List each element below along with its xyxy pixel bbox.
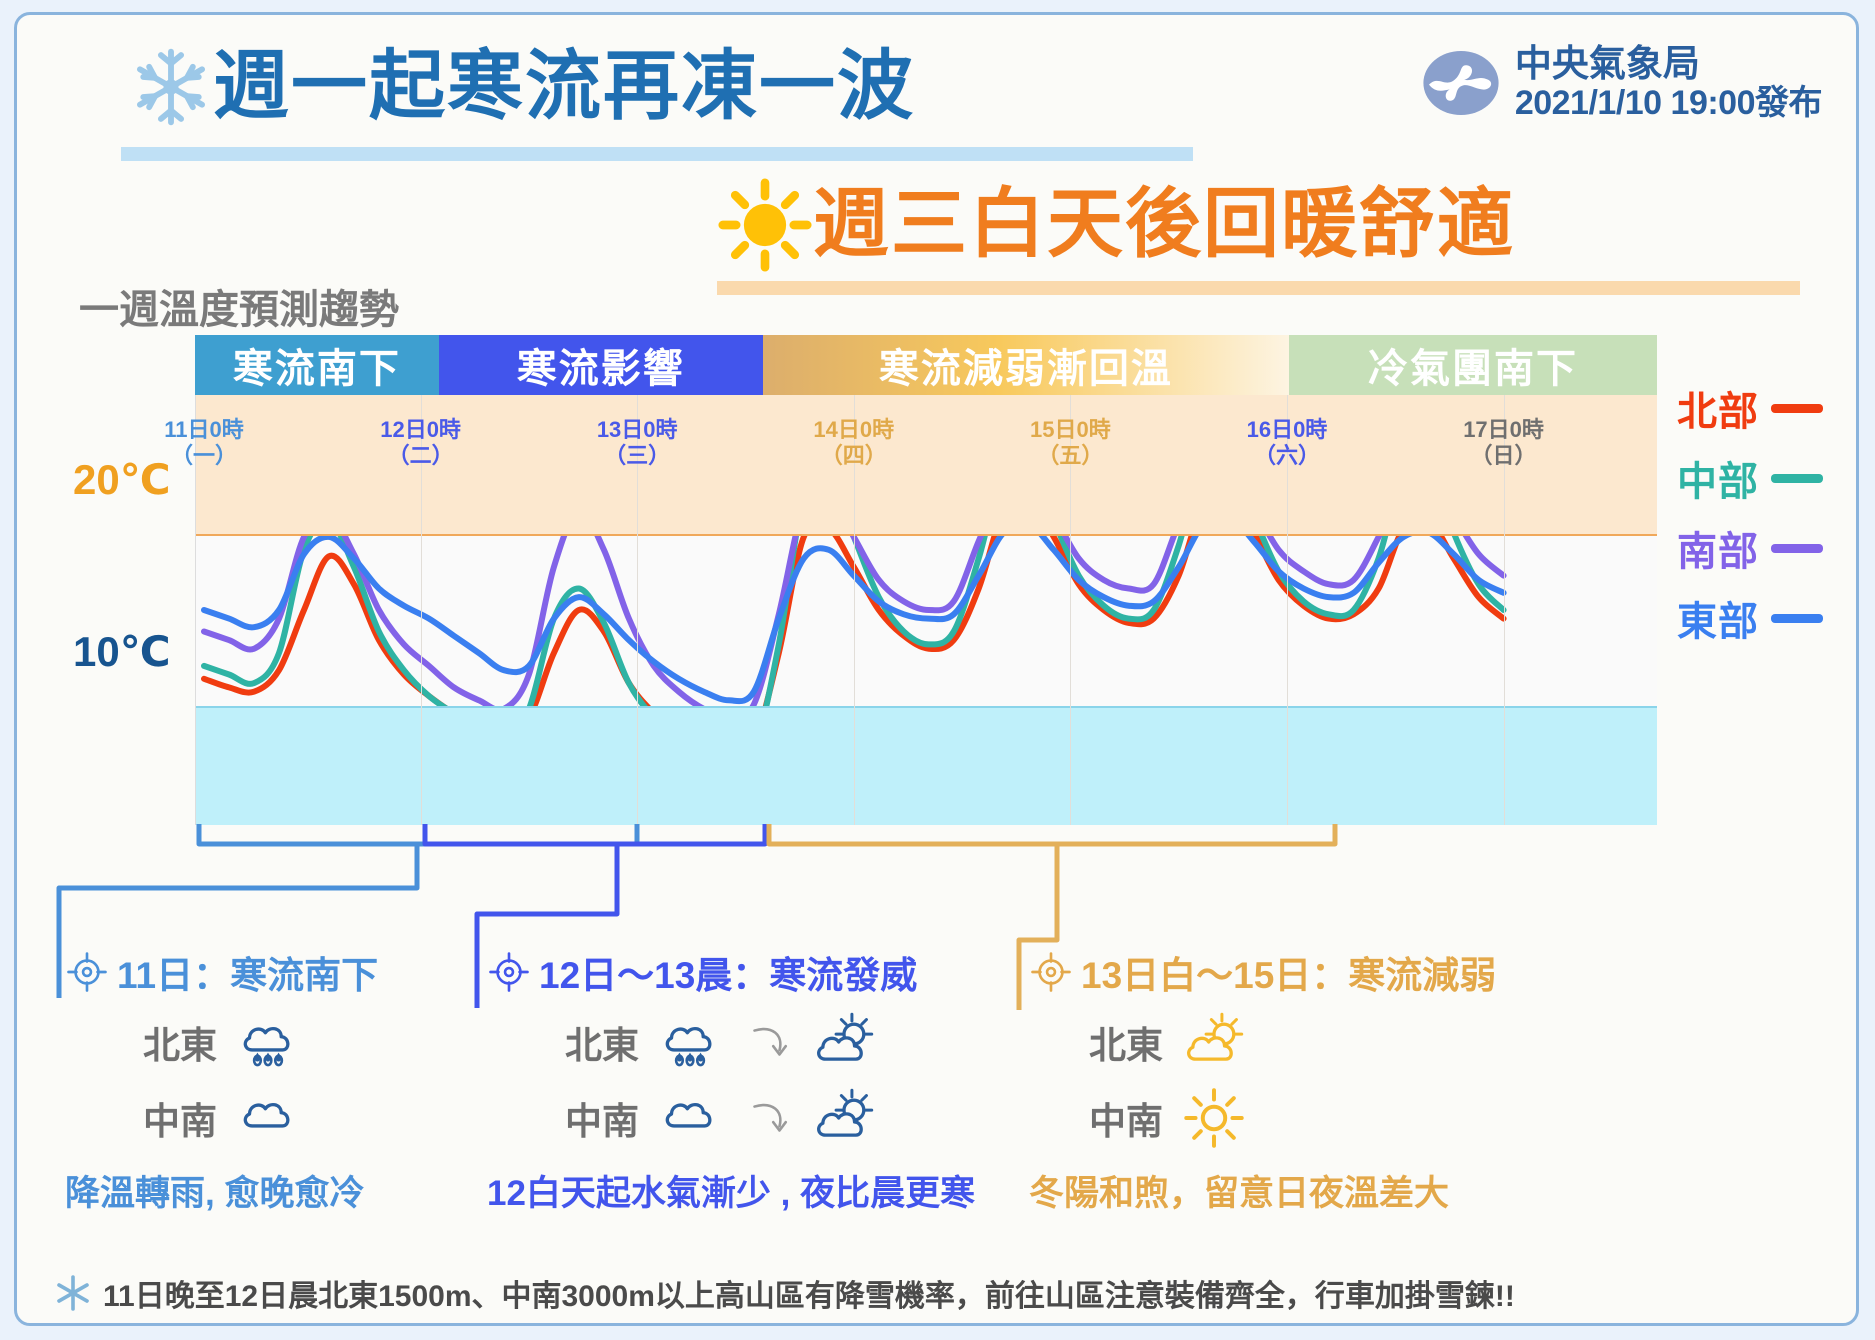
rain-cloud-icon: [235, 1009, 301, 1075]
gridline-20c: [196, 534, 1657, 536]
sun-icon: [717, 177, 813, 273]
headline-1-underline: [121, 147, 1193, 161]
x-tick-label: 17日0時（日）: [1434, 417, 1574, 469]
legend-label: 南部: [1677, 519, 1759, 577]
rain-cloud-icon: [657, 1009, 723, 1075]
callout-title: 13日白～15日：寒流減弱: [1029, 945, 1496, 999]
x-tick-day: 13日0時: [567, 417, 707, 443]
weather-row-label: 北東: [1089, 1015, 1163, 1069]
x-tick-weekday: （二）: [351, 443, 491, 469]
phase-band-2: 寒流影響: [439, 335, 763, 395]
x-tick-label: 14日0時（四）: [784, 417, 924, 469]
target-icon: [487, 950, 531, 994]
footer-text: 11日晚至12日晨北東1500m、中南3000m以上高山區有降雪機率，前往山區注…: [103, 1271, 1515, 1315]
x-tick-label: 15日0時（五）: [1000, 417, 1140, 469]
callout-block-1: 11日：寒流南下北東中南降溫轉雨, 愈晚愈冷: [65, 945, 378, 1216]
x-tick-label: 16日0時（六）: [1217, 417, 1357, 469]
phase-band-3: 寒流減弱漸回溫: [763, 335, 1289, 395]
issued-datetime: 2021/1/10 19:00發布: [1515, 84, 1822, 122]
callout-summary: 冬陽和煦，留意日夜溫差大: [1029, 1165, 1496, 1216]
x-tick-day: 14日0時: [784, 417, 924, 443]
legend-item-東部[interactable]: 東部: [1677, 583, 1823, 653]
callout-title-text: 11日：寒流南下: [117, 945, 378, 999]
weather-row-中南: 中南: [143, 1085, 378, 1151]
weather-row-北東: 北東: [143, 1009, 378, 1075]
weather-row-label: 中南: [565, 1091, 639, 1145]
callout-title: 11日：寒流南下: [65, 945, 378, 999]
sun-yellow-icon: [1181, 1085, 1247, 1151]
agency-brand: 中央氣象局 2021/1/10 19:00發布: [1421, 43, 1822, 123]
x-tick-day: 17日0時: [1434, 417, 1574, 443]
weather-row-中南: 中南: [1089, 1085, 1496, 1151]
x-tick-weekday: （一）: [134, 443, 274, 469]
cwb-logo-icon: [1421, 43, 1501, 123]
legend-item-北部[interactable]: 北部: [1677, 373, 1823, 443]
weather-row-label: 中南: [143, 1091, 217, 1145]
headline-warming: 週三白天後回暖舒適: [717, 177, 1515, 273]
legend-swatch: [1771, 474, 1823, 483]
target-icon: [1029, 950, 1073, 994]
callout-summary: 降溫轉雨, 愈晚愈冷: [65, 1165, 378, 1216]
weather-row-北東: 北東: [1089, 1009, 1496, 1075]
footer-note: 11日晚至12日晨北東1500m、中南3000m以上高山區有降雪機率，前往山區注…: [53, 1271, 1515, 1315]
phase-band-label: 寒流南下: [233, 336, 401, 394]
weather-row-label: 中南: [1089, 1091, 1163, 1145]
x-tick-label: 11日0時（一）: [134, 417, 274, 469]
legend-swatch: [1771, 404, 1823, 413]
headline-2-text: 週三白天後回暖舒適: [813, 187, 1515, 263]
phase-band-label: 寒流減弱漸回溫: [879, 336, 1173, 394]
x-tick-day: 16日0時: [1217, 417, 1357, 443]
arrow-icon: [741, 1016, 793, 1068]
x-tick-label: 13日0時（三）: [567, 417, 707, 469]
cloud-icon: [235, 1085, 301, 1151]
weather-row-label: 北東: [143, 1015, 217, 1069]
phase-band-label: 寒流影響: [517, 336, 685, 394]
x-tick-weekday: （四）: [784, 443, 924, 469]
agency-name: 中央氣象局: [1515, 43, 1822, 84]
target-icon: [65, 950, 109, 994]
headline-1-text: 週一起寒流再凍一波: [213, 49, 915, 125]
phase-band-label: 冷氣團南下: [1368, 336, 1578, 394]
legend-item-南部[interactable]: 南部: [1677, 513, 1823, 583]
x-tick-weekday: （三）: [567, 443, 707, 469]
sun-cloud-yellow-icon: [1181, 1009, 1247, 1075]
legend-swatch: [1771, 544, 1823, 553]
weather-row-中南: 中南: [565, 1085, 975, 1151]
snowflake-small-icon: [53, 1273, 93, 1313]
cold-zone-band: [196, 706, 1657, 825]
callout-title-text: 12日～13晨：寒流發威: [539, 945, 917, 999]
callout-title-text: 13日白～15日：寒流減弱: [1081, 945, 1496, 999]
snowflake-icon: [129, 45, 213, 129]
callout-title: 12日～13晨：寒流發威: [487, 945, 975, 999]
cloud-icon: [657, 1085, 723, 1151]
weather-row-label: 北東: [565, 1015, 639, 1069]
gridline-10c: [196, 706, 1657, 708]
legend-label: 北部: [1677, 379, 1759, 437]
x-tick-weekday: （日）: [1434, 443, 1574, 469]
x-tick-day: 11日0時: [134, 417, 274, 443]
x-tick-day: 12日0時: [351, 417, 491, 443]
chart-caption: 一週溫度預測趨勢: [79, 277, 399, 335]
callout-block-2: 12日～13晨：寒流發威北東中南12白天起水氣漸少 , 夜比晨更寒: [487, 945, 975, 1216]
headline-2-underline: [717, 281, 1800, 295]
series-legend: 北部中部南部東部: [1677, 373, 1823, 653]
phase-band-4: 冷氣團南下: [1289, 335, 1657, 395]
phase-band-row: 寒流南下寒流影響寒流減弱漸回溫冷氣團南下: [195, 335, 1657, 395]
chart-plot-area: 11日0時（一）12日0時（二）13日0時（三）14日0時（四）15日0時（五）…: [195, 395, 1657, 825]
infographic-card: 週一起寒流再凍一波 週三白天後回暖舒適 中央氣象局 2021/1/10 19:0…: [14, 12, 1859, 1326]
legend-label: 中部: [1677, 449, 1759, 507]
x-tick-day: 15日0時: [1000, 417, 1140, 443]
legend-label: 東部: [1677, 589, 1759, 647]
sun-cloud-icon: [811, 1009, 877, 1075]
x-tick-weekday: （六）: [1217, 443, 1357, 469]
phase-band-1: 寒流南下: [195, 335, 439, 395]
legend-item-中部[interactable]: 中部: [1677, 443, 1823, 513]
sun-cloud-icon: [811, 1085, 877, 1151]
x-tick-weekday: （五）: [1000, 443, 1140, 469]
callout-block-3: 13日白～15日：寒流減弱北東中南冬陽和煦，留意日夜溫差大: [1029, 945, 1496, 1216]
arrow-icon: [741, 1092, 793, 1144]
headline-cold-wave: 週一起寒流再凍一波: [129, 45, 915, 129]
weather-row-北東: 北東: [565, 1009, 975, 1075]
x-tick-label: 12日0時（二）: [351, 417, 491, 469]
temperature-chart: 寒流南下寒流影響寒流減弱漸回溫冷氣團南下 11日0時（一）12日0時（二）13日…: [195, 335, 1657, 825]
callout-summary: 12白天起水氣漸少 , 夜比晨更寒: [487, 1165, 975, 1216]
legend-swatch: [1771, 614, 1823, 623]
y-axis-label-10: 10℃: [73, 627, 171, 676]
